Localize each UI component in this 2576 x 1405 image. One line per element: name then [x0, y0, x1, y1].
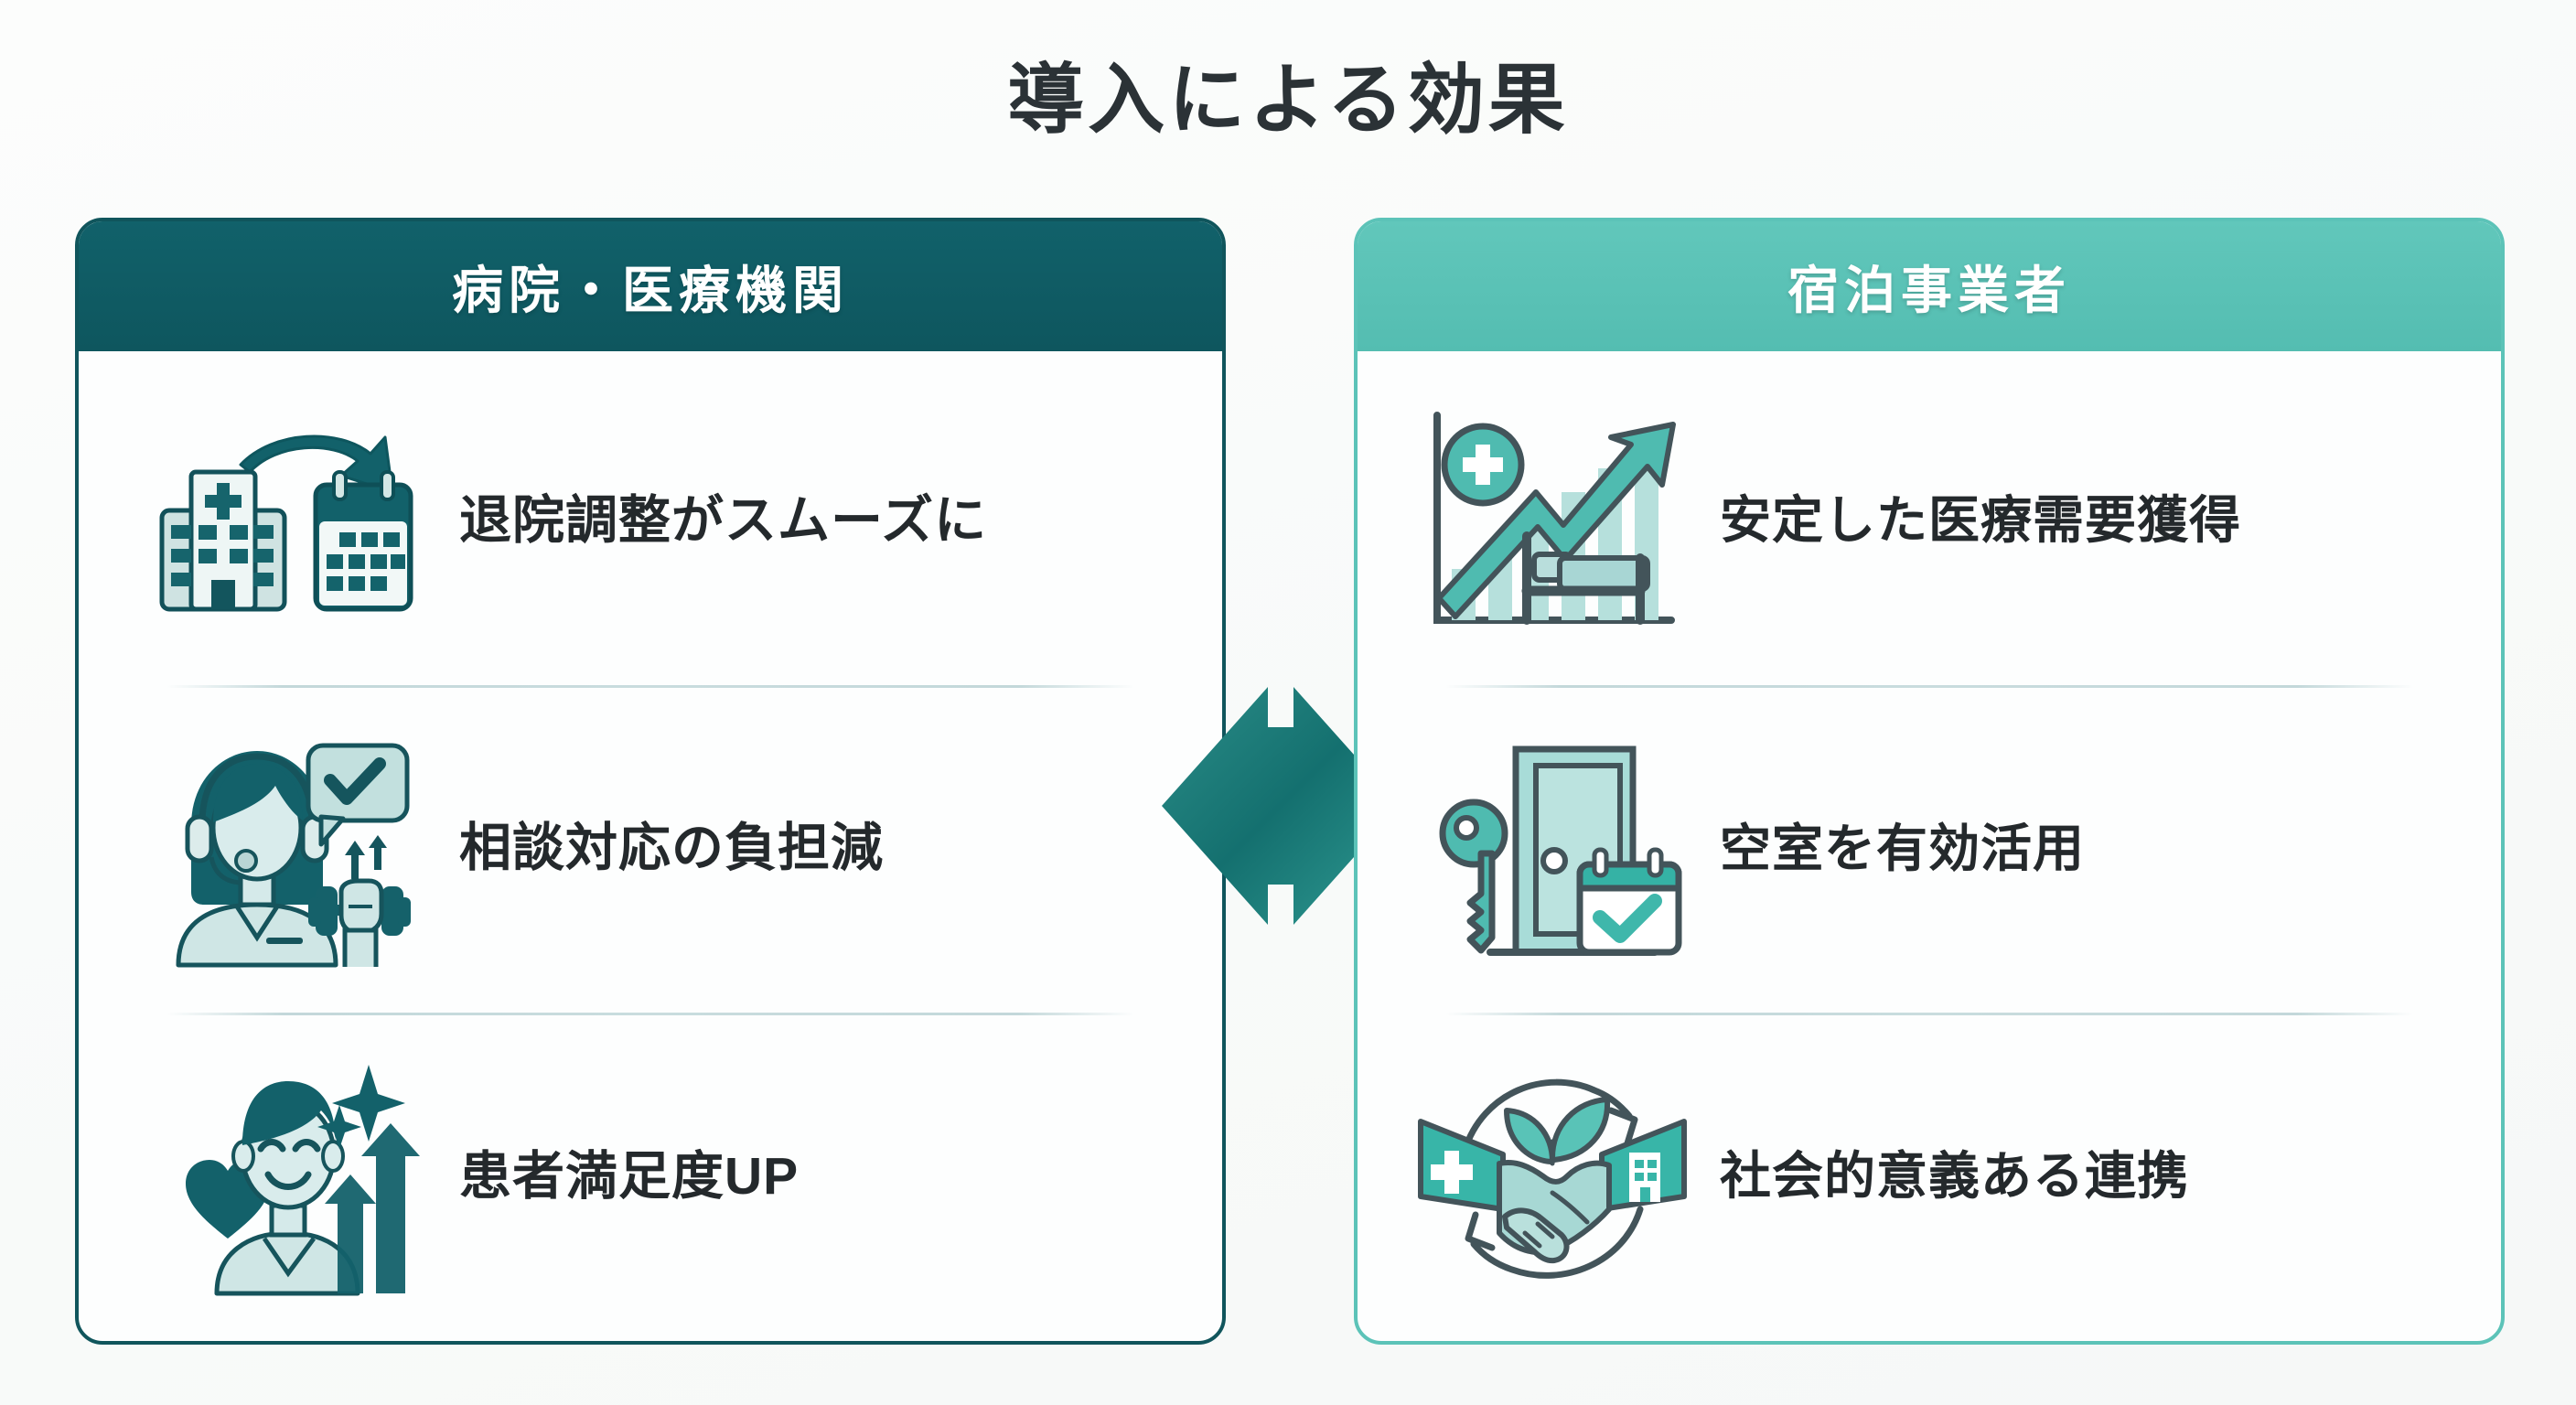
- hospital-to-calendar-icon: [132, 388, 434, 653]
- list-item-label: 退院調整がスムーズに: [459, 491, 987, 552]
- panel-hospital-header-label: 病院・医療機関: [452, 250, 849, 324]
- panel-hospital: 病院・医療機関: [75, 218, 1226, 1345]
- list-item-label: 相談対応の負担減: [459, 819, 884, 879]
- list-item[interactable]: 相談対応の負担減: [79, 685, 1222, 1014]
- list-item-label: 空室を有効活用: [1720, 820, 2085, 878]
- panel-lodging-body: 安定した医療需要獲得: [1358, 351, 2501, 1341]
- page-title: 導入による効果: [0, 38, 2576, 149]
- list-item[interactable]: 患者満足度UP: [79, 1013, 1222, 1341]
- panel-hospital-header: 病院・医療機関: [79, 221, 1222, 351]
- smiling-patient-heart-icon: [132, 1045, 434, 1310]
- list-item[interactable]: 社会的意義ある連携: [1358, 1013, 2501, 1341]
- growth-chart-bed-icon: [1411, 388, 1694, 653]
- list-item[interactable]: 空室を有効活用: [1358, 685, 2501, 1014]
- panel-lodging-header: 宿泊事業者: [1358, 221, 2501, 351]
- list-item[interactable]: 退院調整がスムーズに: [79, 357, 1222, 685]
- list-item-label: 社会的意義ある連携: [1720, 1147, 2189, 1206]
- panel-lodging: 宿泊事業者: [1354, 218, 2505, 1345]
- handshake-partnership-icon: [1411, 1045, 1694, 1310]
- list-item-label: 患者満足度UP: [459, 1147, 799, 1207]
- key-door-calendar-icon: [1411, 716, 1694, 981]
- panel-lodging-header-label: 宿泊事業者: [1787, 250, 2071, 324]
- headset-operator-check-icon: [132, 716, 434, 981]
- panel-hospital-body: 退院調整がスムーズに: [79, 351, 1222, 1341]
- list-item[interactable]: 安定した医療需要獲得: [1358, 357, 2501, 685]
- list-item-label: 安定した医療需要獲得: [1720, 491, 2241, 550]
- infographic-canvas: 導入による効果 病院・医療機関: [0, 0, 2576, 1405]
